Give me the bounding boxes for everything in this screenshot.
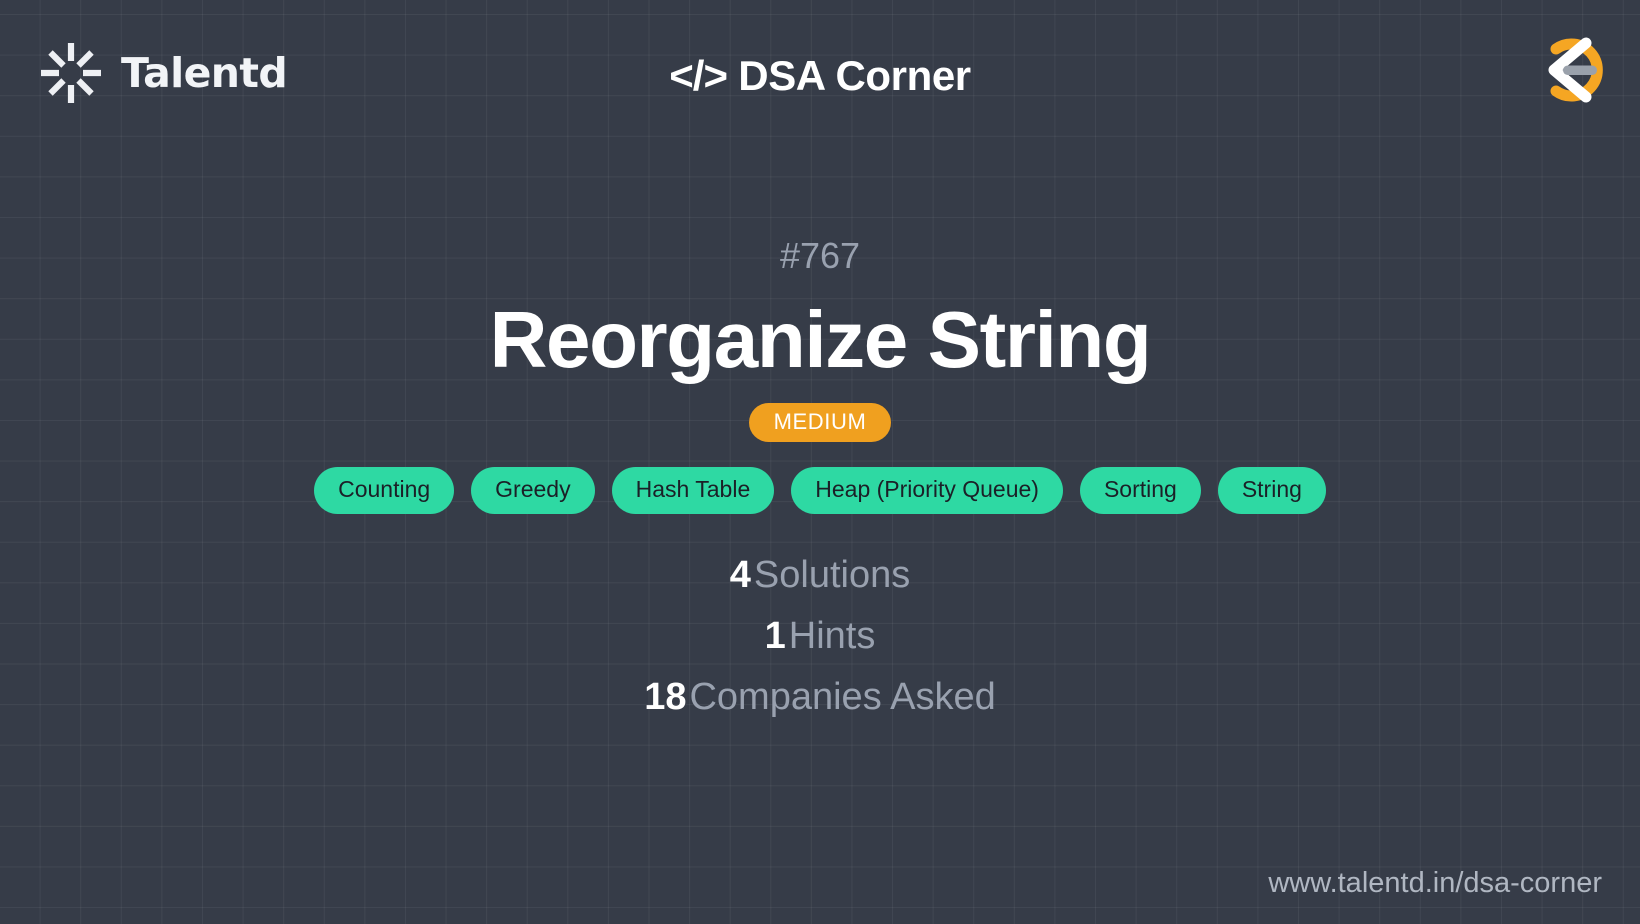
stat-value: 1 [765, 615, 786, 657]
stat-row-companies: 18Companies Asked [644, 678, 996, 716]
problem-number: #767 [780, 238, 860, 274]
problem-card: #767 Reorganize String MEDIUM Counting G… [0, 158, 1640, 924]
page-title: </> DSA Corner [0, 52, 1640, 100]
stat-row-solutions: 4Solutions [730, 556, 910, 594]
tag-pill[interactable]: Hash Table [612, 467, 775, 514]
problem-title: Reorganize String [490, 298, 1151, 383]
footer-url[interactable]: www.talentd.in/dsa-corner [1268, 869, 1602, 898]
stat-value: 18 [644, 676, 686, 718]
tag-pill[interactable]: Greedy [471, 467, 594, 514]
code-brackets-icon: </> [669, 52, 727, 99]
stats-list: 4Solutions 1Hints 18Companies Asked [644, 556, 996, 716]
stat-value: 4 [730, 554, 751, 596]
talentd-c-chevron-logo-icon [1527, 27, 1613, 113]
tag-list: Counting Greedy Hash Table Heap (Priorit… [314, 467, 1326, 514]
stat-label: Hints [789, 615, 876, 657]
tag-pill[interactable]: Counting [314, 467, 454, 514]
dsa-corner-card: Talentd </> DSA Corner #767 Reorganize S… [0, 0, 1640, 924]
stat-label: Solutions [754, 554, 910, 596]
tag-pill[interactable]: Sorting [1080, 467, 1201, 514]
header-bar: Talentd </> DSA Corner [0, 0, 1640, 158]
tag-pill[interactable]: String [1218, 467, 1326, 514]
header-title-text: DSA Corner [738, 52, 970, 99]
stat-row-hints: 1Hints [765, 617, 876, 655]
tag-pill[interactable]: Heap (Priority Queue) [791, 467, 1063, 514]
difficulty-badge: MEDIUM [749, 403, 892, 442]
stat-label: Companies Asked [689, 676, 995, 718]
